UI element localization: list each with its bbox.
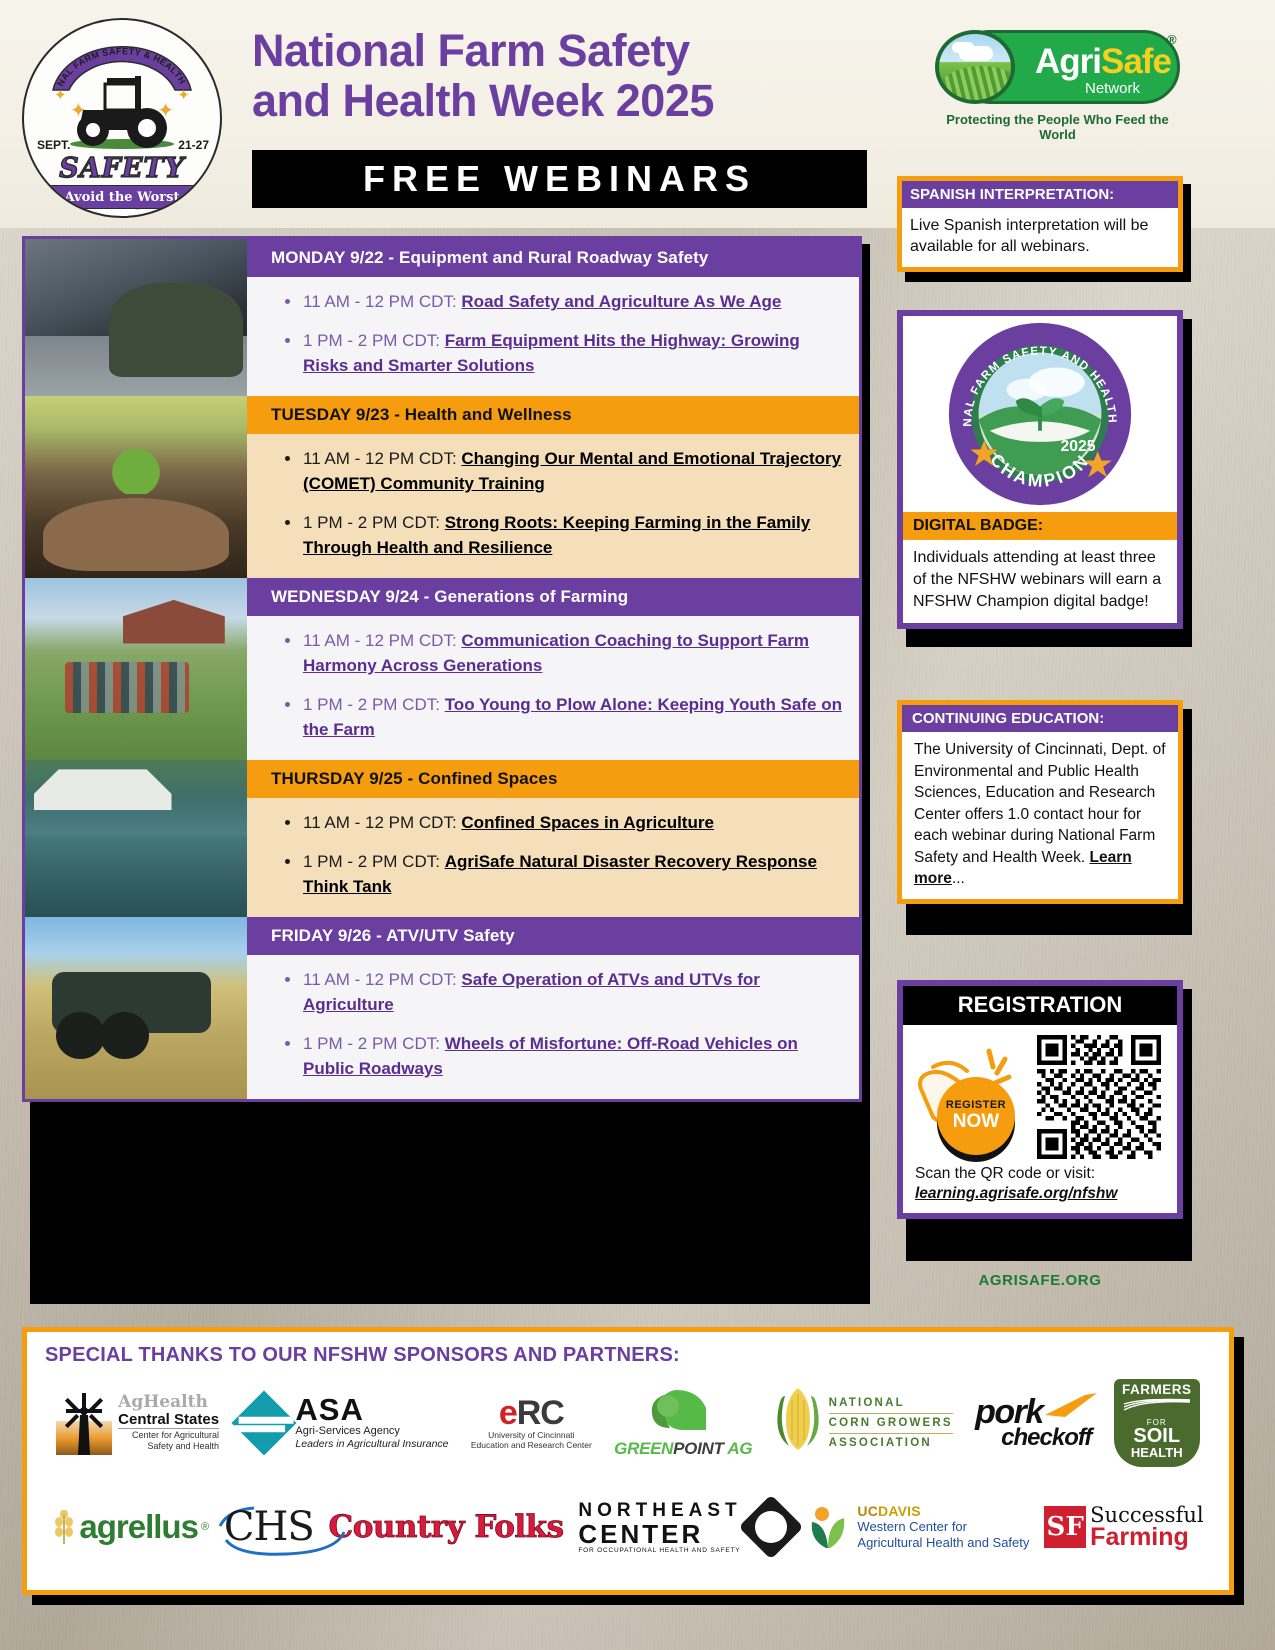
day-heading-tuesday: TUESDAY 9/23 - Health and Wellness xyxy=(247,396,859,434)
page-title-line1: National Farm Safety xyxy=(252,26,872,76)
asa-diamond-icon xyxy=(232,1390,297,1455)
champion-badge-seal: 2025 NATIONAL FARM SAFETY AND HEALTH WEE… xyxy=(903,316,1177,512)
sponsor-northeast-center: NORTHEAST CENTER FOR OCCUPATIONAL HEALTH… xyxy=(578,1500,793,1554)
webinar-time: 11 AM - 12 PM CDT: xyxy=(303,449,461,468)
sponsor-erc-uc: eRC University of Cincinnati Education a… xyxy=(471,1396,592,1450)
day-webinars-wednesday: 11 AM - 12 PM CDT: Communication Coachin… xyxy=(247,616,859,760)
sponsor-pork-checkoff: pork checkoff xyxy=(975,1397,1091,1449)
registration-url-link[interactable]: learning.agrisafe.org/nfshw xyxy=(903,1185,1177,1213)
page-title: National Farm Safety and Health Week 202… xyxy=(252,26,872,126)
continuing-education-panel: CONTINUING EDUCATION: The University of … xyxy=(897,700,1183,904)
fsh-line4: HEALTH xyxy=(1114,1446,1200,1460)
webinar-item: 1 PM - 2 PM CDT: Farm Equipment Hits the… xyxy=(281,328,845,378)
day-heading-monday: MONDAY 9/22 - Equipment and Rural Roadwa… xyxy=(247,239,859,277)
ce-body-tail: ... xyxy=(952,870,965,887)
gpa-point: POINT xyxy=(673,1439,723,1458)
registered-trademark-icon: ® xyxy=(1167,32,1177,47)
agrisafe-word-safe: Safe xyxy=(1101,42,1171,81)
webinar-item: 1 PM - 2 PM CDT: Strong Roots: Keeping F… xyxy=(281,510,845,560)
erc-rc: RC xyxy=(517,1394,564,1432)
day-block-thursday: THURSDAY 9/25 - Confined Spaces11 AM - 1… xyxy=(22,760,862,917)
agrisafe-network-logo: AgriSafe ® Network Protecting the People… xyxy=(935,30,1180,138)
webinar-item: 1 PM - 2 PM CDT: Wheels of Misfortune: O… xyxy=(281,1031,845,1081)
sponsor-farmers-for-soil-health: FARMERS FOR SOIL HEALTH xyxy=(1114,1379,1200,1467)
spanish-interpretation-body: Live Spanish interpretation will be avai… xyxy=(902,208,1178,267)
webinar-title-link[interactable]: Confined Spaces in Agriculture xyxy=(461,813,714,832)
windmill-icon xyxy=(56,1391,112,1455)
webinar-time: 1 PM - 2 PM CDT: xyxy=(303,695,445,714)
sponsors-row-2: agrellus ® CHS Country Folks NORTHEAST C… xyxy=(45,1475,1211,1579)
sponsor-agrellus: agrellus ® xyxy=(52,1508,209,1546)
farming-text: Farming xyxy=(1090,1525,1203,1549)
tractor-cab-driver-photo xyxy=(25,239,247,396)
webinar-time: 11 AM - 12 PM CDT: xyxy=(303,631,461,650)
fsh-line1: FARMERS xyxy=(1114,1383,1200,1397)
webinar-time: 11 AM - 12 PM CDT: xyxy=(303,292,461,311)
greenpoint-ag-wordmark: GREENPOINT AG xyxy=(614,1439,752,1459)
register-now-button[interactable]: REGISTER NOW xyxy=(913,1037,1031,1157)
sponsor-successful-farming: SF Successful Farming xyxy=(1044,1505,1203,1549)
agrellus-registered-icon: ® xyxy=(201,1521,209,1533)
registration-scan-text: Scan the QR code or visit: xyxy=(903,1161,1177,1185)
sparkle-icon: ✦ xyxy=(70,98,87,123)
day-body-monday: MONDAY 9/22 - Equipment and Rural Roadwa… xyxy=(247,239,859,396)
successful-text: Successful xyxy=(1090,1505,1203,1525)
agrisafe-tagline: Protecting the People Who Feed the World xyxy=(935,112,1180,142)
continuing-education-heading: CONTINUING EDUCATION: xyxy=(902,705,1178,732)
webinar-item: 11 AM - 12 PM CDT: Changing Our Mental a… xyxy=(281,446,845,496)
registration-heading: REGISTRATION xyxy=(903,986,1177,1025)
erc-sub1: University of Cincinnati xyxy=(471,1430,592,1440)
logo-dates-label: 21-27 xyxy=(178,138,209,152)
chs-wordmark: CHS xyxy=(224,1504,314,1550)
day-heading-friday: FRIDAY 9/26 - ATV/UTV Safety xyxy=(247,917,859,955)
sponsor-chs: CHS xyxy=(224,1504,314,1550)
sponsors-heading: SPECIAL THANKS TO OUR NFSHW SPONSORS AND… xyxy=(45,1344,1211,1367)
sponsors-panel: SPECIAL THANKS TO OUR NFSHW SPONSORS AND… xyxy=(22,1327,1234,1595)
ncga-line3: ASSOCIATION xyxy=(829,1434,953,1453)
registration-qr-code[interactable] xyxy=(1037,1035,1161,1159)
register-now-line2: NOW xyxy=(953,1111,999,1133)
asa-subtitle: Agri-Services Agency xyxy=(295,1425,448,1438)
digital-badge-heading: DIGITAL BADGE: xyxy=(903,512,1177,540)
agrisafe-wordmark: AgriSafe xyxy=(1035,42,1171,82)
sponsor-uc-davis-western-center: UCDAVIS Western Center for Agricultural … xyxy=(808,1503,1029,1551)
davis-text: DAVIS xyxy=(878,1503,921,1519)
webinar-time: 1 PM - 2 PM CDT: xyxy=(303,852,445,871)
day-body-wednesday: WEDNESDAY 9/24 - Generations of Farming1… xyxy=(247,578,859,760)
sponsor-country-folks: Country Folks xyxy=(329,1509,564,1545)
sponsor-aghealth-central-states: AgHealth Central States Center for Agric… xyxy=(56,1391,219,1455)
ucd-leaf-icon xyxy=(808,1504,850,1550)
aghealth-sub2: Safety and Health xyxy=(118,1441,219,1452)
corn-icon xyxy=(775,1386,821,1460)
gpa-green: GREEN xyxy=(614,1439,673,1458)
day-heading-thursday: THURSDAY 9/25 - Confined Spaces xyxy=(247,760,859,798)
spanish-interpretation-heading: SPANISH INTERPRETATION: xyxy=(902,181,1178,208)
ncga-line2: CORN GROWERS xyxy=(829,1414,953,1434)
asa-wordmark: ASA xyxy=(295,1395,448,1425)
agrisafe-network-label: Network xyxy=(1085,80,1140,97)
fsh-line3: SOIL xyxy=(1114,1427,1200,1446)
sponsors-row-1: AgHealth Central States Center for Agric… xyxy=(45,1371,1211,1475)
sponsor-national-corn-growers: NATIONAL CORN GROWERS ASSOCIATION xyxy=(775,1386,953,1460)
erc-wordmark: eRC xyxy=(471,1396,592,1430)
sponsor-greenpoint-ag: GREENPOINT AG xyxy=(614,1388,752,1459)
aghealth-name: AgHealth xyxy=(118,1394,219,1411)
webinar-time: 1 PM - 2 PM CDT: xyxy=(303,513,445,532)
wheat-icon xyxy=(52,1510,76,1544)
nec-line1: NORTHEAST xyxy=(578,1500,741,1521)
uc-text: UC xyxy=(857,1503,878,1519)
registration-panel: REGISTRATION REGISTER NOW xyxy=(897,980,1183,1219)
register-now-line1: REGISTER xyxy=(946,1099,1006,1111)
day-webinars-tuesday: 11 AM - 12 PM CDT: Changing Our Mental a… xyxy=(247,434,859,578)
sponsor-asa: ASA Agri-Services Agency Leaders in Agri… xyxy=(241,1395,448,1451)
swoosh-icon xyxy=(1045,1393,1097,1417)
ucd-line2: Western Center for xyxy=(857,1519,1029,1535)
erc-sub2: Education and Research Center xyxy=(471,1440,592,1450)
sparkle-icon: ✦ xyxy=(157,98,174,123)
day-heading-wednesday: WEDNESDAY 9/24 - Generations of Farming xyxy=(247,578,859,616)
nfshw-safety-first-logo: NATIONAL FARM SAFETY & HEALTH WEEK ✦ ✦ ✦… xyxy=(22,18,222,218)
leaf-icon xyxy=(646,1388,720,1432)
sparkle-icon: ✦ xyxy=(54,86,67,104)
aghealth-central-states: Central States xyxy=(118,1411,219,1428)
continuing-education-body: The University of Cincinnati, Dept. of E… xyxy=(902,732,1178,899)
webinar-time: 1 PM - 2 PM CDT: xyxy=(303,331,445,350)
day-block-wednesday: WEDNESDAY 9/24 - Generations of Farming1… xyxy=(22,578,862,760)
day-webinars-friday: 11 AM - 12 PM CDT: Safe Operation of ATV… xyxy=(247,955,859,1099)
page-title-line2: and Health Week 2025 xyxy=(252,76,872,126)
day-body-thursday: THURSDAY 9/25 - Confined Spaces11 AM - 1… xyxy=(247,760,859,917)
digital-badge-panel: 2025 NATIONAL FARM SAFETY AND HEALTH WEE… xyxy=(897,310,1183,629)
flooded-farm-aerial-photo xyxy=(25,760,247,917)
agrisafe-field-icon xyxy=(935,30,1015,104)
free-webinars-label: FREE WEBINARS xyxy=(363,158,756,200)
ucd-line3: Agricultural Health and Safety xyxy=(857,1535,1029,1551)
day-webinars-thursday: 11 AM - 12 PM CDT: Confined Spaces in Ag… xyxy=(247,798,859,917)
sf-monogram-icon: SF xyxy=(1044,1506,1086,1548)
webinar-item: 11 AM - 12 PM CDT: Communication Coachin… xyxy=(281,628,845,678)
gpa-ag: AG xyxy=(727,1439,752,1458)
logo-ribbon-text: Avoid the Worst xyxy=(50,185,194,209)
webinar-schedule: MONDAY 9/22 - Equipment and Rural Roadwa… xyxy=(22,236,862,1102)
seedling-in-hands-photo xyxy=(25,396,247,578)
ucdavis-wordmark: UCDAVIS xyxy=(857,1503,1029,1519)
asa-tagline: Leaders in Agricultural Insurance xyxy=(295,1438,448,1451)
atv-in-field-photo xyxy=(25,917,247,1099)
spanish-interpretation-panel: SPANISH INTERPRETATION: Live Spanish int… xyxy=(897,176,1183,272)
webinar-item: 11 AM - 12 PM CDT: Safe Operation of ATV… xyxy=(281,967,845,1017)
northeast-center-emblem-icon xyxy=(738,1494,803,1559)
webinar-item: 1 PM - 2 PM CDT: Too Young to Plow Alone… xyxy=(281,692,845,742)
webinar-title-link[interactable]: Road Safety and Agriculture As We Age xyxy=(461,292,781,311)
free-webinars-banner: FREE WEBINARS xyxy=(252,150,867,208)
webinar-item: 1 PM - 2 PM CDT: AgriSafe Natural Disast… xyxy=(281,849,845,899)
day-block-friday: FRIDAY 9/26 - ATV/UTV Safety11 AM - 12 P… xyxy=(22,917,862,1102)
digital-badge-body: Individuals attending at least three of … xyxy=(903,540,1177,623)
field-lines-icon xyxy=(1122,1398,1192,1412)
webinar-item: 11 AM - 12 PM CDT: Confined Spaces in Ag… xyxy=(281,810,845,835)
day-body-tuesday: TUESDAY 9/23 - Health and Wellness11 AM … xyxy=(247,396,859,578)
agrisafe-word-agri: Agri xyxy=(1035,42,1101,81)
logo-sept-label: SEPT. xyxy=(37,138,70,152)
webinar-time: 11 AM - 12 PM CDT: xyxy=(303,813,461,832)
agrellus-wordmark: agrellus xyxy=(79,1508,198,1546)
day-block-monday: MONDAY 9/22 - Equipment and Rural Roadwa… xyxy=(22,236,862,396)
farm-family-walking-photo xyxy=(25,578,247,760)
nec-line3: FOR OCCUPATIONAL HEALTH AND SAFETY xyxy=(578,1547,741,1554)
ce-body-text: The University of Cincinnati, Dept. of E… xyxy=(914,741,1166,866)
sparkle-icon: ✦ xyxy=(177,86,190,104)
aghealth-sub1: Center for Agricultural xyxy=(118,1430,219,1441)
day-body-friday: FRIDAY 9/26 - ATV/UTV Safety11 AM - 12 P… xyxy=(247,917,859,1099)
ncga-line1: NATIONAL xyxy=(829,1394,953,1414)
agrisafe-website-footer[interactable]: AGRISAFE.ORG xyxy=(897,1272,1183,1289)
nec-line2: CENTER xyxy=(578,1521,741,1547)
day-block-tuesday: TUESDAY 9/23 - Health and Wellness11 AM … xyxy=(22,396,862,578)
webinar-time: 11 AM - 12 PM CDT: xyxy=(303,970,461,989)
day-webinars-monday: 11 AM - 12 PM CDT: Road Safety and Agric… xyxy=(247,277,859,396)
webinar-item: 11 AM - 12 PM CDT: Road Safety and Agric… xyxy=(281,289,845,314)
checkoff-wordmark: checkoff xyxy=(1001,1427,1091,1449)
webinar-time: 1 PM - 2 PM CDT: xyxy=(303,1034,445,1053)
